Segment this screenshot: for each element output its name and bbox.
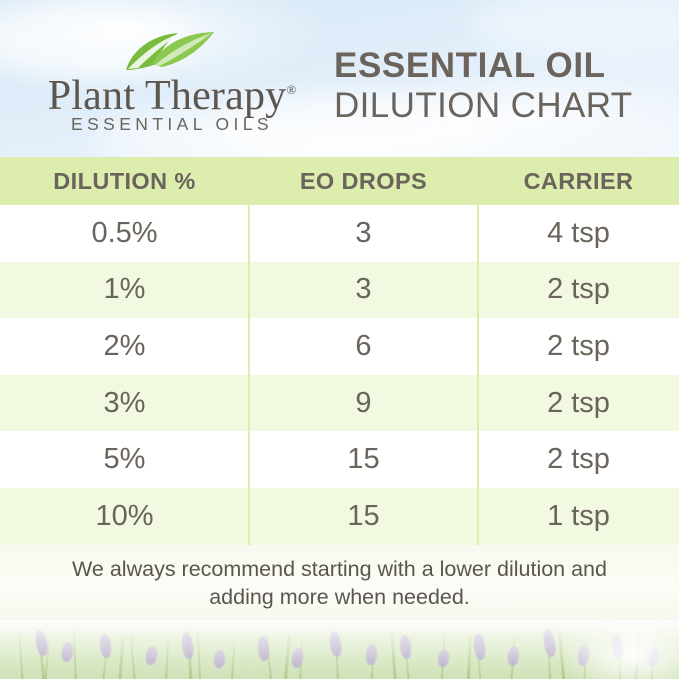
registered-mark: ® xyxy=(286,82,296,97)
brand-logo: Plant Therapy® ESSENTIAL OILS xyxy=(36,30,308,135)
footer-note-text: We always recommend starting with a lowe… xyxy=(60,555,620,611)
column-header-dilution: DILUTION % xyxy=(0,157,249,205)
cell-carrier: 1 tsp xyxy=(478,488,679,545)
column-header-carrier: CARRIER xyxy=(478,157,679,205)
cell-drops: 15 xyxy=(249,431,478,488)
cell-dilution: 2% xyxy=(0,318,249,375)
cell-carrier: 2 tsp xyxy=(478,375,679,432)
table-row: 10% 15 1 tsp xyxy=(0,488,679,545)
cell-drops: 3 xyxy=(249,262,478,319)
cell-drops: 15 xyxy=(249,488,478,545)
cell-drops: 3 xyxy=(249,205,478,262)
cell-carrier: 2 tsp xyxy=(478,431,679,488)
page-title-line1: ESSENTIAL OIL xyxy=(334,46,654,86)
table-header-row: DILUTION % EO DROPS CARRIER xyxy=(0,157,679,205)
cell-dilution: 1% xyxy=(0,262,249,319)
table-row: 1% 3 2 tsp xyxy=(0,262,679,319)
cell-dilution: 3% xyxy=(0,375,249,432)
footer-note: We always recommend starting with a lowe… xyxy=(0,545,679,620)
dilution-table: DILUTION % EO DROPS CARRIER 0.5% 3 4 tsp… xyxy=(0,157,679,545)
cell-dilution: 0.5% xyxy=(0,205,249,262)
dilution-chart-poster: Plant Therapy® ESSENTIAL OILS ESSENTIAL … xyxy=(0,0,679,679)
poster-header: Plant Therapy® ESSENTIAL OILS ESSENTIAL … xyxy=(0,0,679,157)
column-header-eo-drops: EO DROPS xyxy=(249,157,478,205)
table-row: 5% 15 2 tsp xyxy=(0,431,679,488)
cell-carrier: 4 tsp xyxy=(478,205,679,262)
cell-carrier: 2 tsp xyxy=(478,318,679,375)
table-row: 3% 9 2 tsp xyxy=(0,375,679,432)
brand-name: Plant Therapy® xyxy=(36,66,308,120)
brand-name-text: Plant Therapy xyxy=(48,73,287,119)
table-row: 2% 6 2 tsp xyxy=(0,318,679,375)
brand-tagline: ESSENTIAL OILS xyxy=(36,114,308,134)
page-title-line2: DILUTION CHART xyxy=(334,86,654,126)
page-title: ESSENTIAL OIL DILUTION CHART xyxy=(334,46,654,126)
cell-carrier: 2 tsp xyxy=(478,262,679,319)
cell-drops: 6 xyxy=(249,318,478,375)
table-row: 0.5% 3 4 tsp xyxy=(0,205,679,262)
cell-drops: 9 xyxy=(249,375,478,432)
cell-dilution: 5% xyxy=(0,431,249,488)
lavender-field-image xyxy=(0,620,679,679)
cell-dilution: 10% xyxy=(0,488,249,545)
